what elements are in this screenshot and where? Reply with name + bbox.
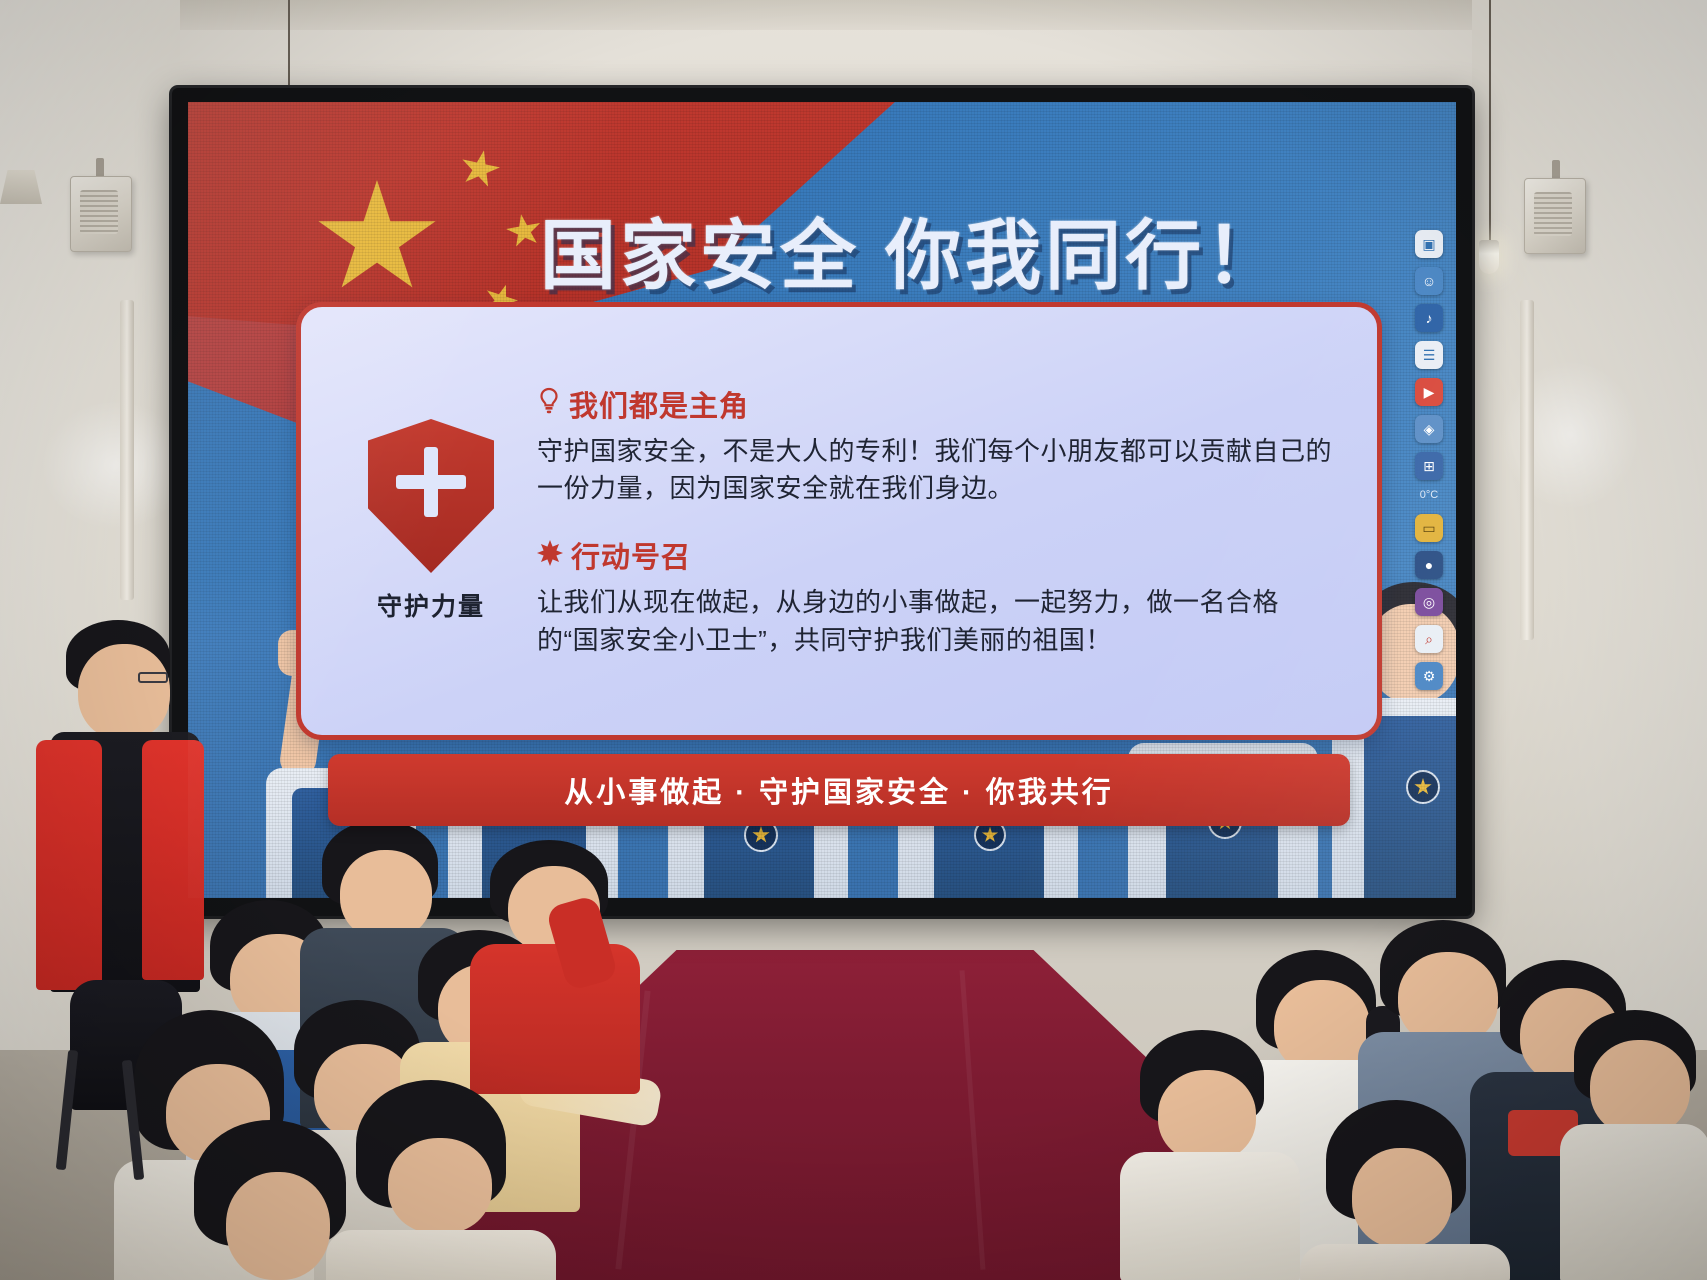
section-heading-2: 行动号召	[537, 534, 1335, 576]
slide-title: 国家安全 你我同行！	[540, 194, 1285, 304]
child-body	[1120, 1152, 1300, 1280]
display-icon[interactable]: ▣	[1415, 230, 1443, 258]
sparkle-burst-icon	[537, 540, 563, 571]
child-center-3	[170, 1120, 380, 1280]
presenter-red-vest	[36, 740, 102, 990]
section-heading-1-text: 我们都是主角	[569, 383, 749, 425]
temperature-readout: 0°C	[1420, 489, 1438, 505]
section-body-2: 让我们从现在做起，从身边的小事做起，一起努力，做一名合格的“国家安全小卫士”，共…	[537, 584, 1335, 659]
child-head	[226, 1172, 330, 1280]
child-right-5	[1120, 1030, 1300, 1280]
child-head	[340, 850, 432, 940]
search-icon[interactable]: ⌕	[1415, 625, 1443, 653]
shield-plus-icon	[368, 419, 494, 573]
child-body	[1300, 1244, 1510, 1280]
camera-icon[interactable]: ◎	[1415, 588, 1443, 616]
gallery-icon[interactable]: ◈	[1415, 415, 1443, 443]
presenter-head	[78, 644, 170, 740]
speaker-arm-left	[96, 158, 104, 178]
wall-conduit-left	[120, 300, 134, 600]
folder-icon[interactable]: ▭	[1415, 514, 1443, 542]
settings-icon[interactable]: ⚙	[1415, 662, 1443, 690]
wall-right	[1472, 0, 1707, 1080]
lightbulb-icon	[537, 387, 561, 420]
wall-conduit-right	[1520, 300, 1534, 640]
slide-content-card: 守护力量 我们都是主角 守护国家安全，不是大人的专利！我们每个	[296, 302, 1382, 740]
apps-icon[interactable]: ⊞	[1415, 452, 1443, 480]
led-display-screen[interactable]: 国家安全 你我同行！ 守护力量	[188, 102, 1456, 898]
shield-caption: 守护力量	[377, 587, 485, 623]
wall-speaker-left	[70, 176, 132, 252]
illustration-badge	[1406, 770, 1440, 804]
child-right-4	[1560, 1010, 1707, 1280]
slide-footer-banner: 从小事做起 · 守护国家安全 · 你我共行	[328, 754, 1350, 826]
wall-speaker-right	[1524, 178, 1586, 254]
ceiling-light-bulb-right	[1479, 240, 1499, 274]
speaker-arm-right	[1552, 160, 1560, 180]
child-right-6	[1300, 1100, 1510, 1280]
child-body	[1560, 1124, 1707, 1280]
child-head	[1352, 1148, 1452, 1248]
classroom-scene: 国家安全 你我同行！ 守护力量	[0, 0, 1707, 1280]
light-wire-right	[1489, 0, 1491, 240]
ceiling-beam	[0, 0, 1707, 30]
presenter-glasses	[138, 672, 168, 683]
card-text-column: 我们都是主角 守护国家安全，不是大人的专利！我们每个小朋友都可以贡献自己的一份力…	[531, 377, 1377, 666]
child-head	[1590, 1040, 1690, 1136]
section-body-1: 守护国家安全，不是大人的专利！我们每个小朋友都可以贡献自己的一份力量，因为国家安…	[537, 433, 1335, 508]
section-heading-1: 我们都是主角	[537, 383, 1335, 425]
child-head	[1158, 1070, 1256, 1162]
wall-stain-1	[40, 400, 190, 530]
child-head	[388, 1138, 492, 1234]
plus-horizontal-bar	[396, 475, 466, 489]
music-icon[interactable]: ♪	[1415, 304, 1443, 332]
browser-icon[interactable]: ●	[1415, 551, 1443, 579]
led-display-frame[interactable]: 国家安全 你我同行！ 守护力量	[172, 88, 1472, 916]
section-heading-2-text: 行动号召	[571, 534, 691, 576]
illustration-vest	[1364, 716, 1456, 898]
screen-side-toolbar[interactable]: ▣ ☺ ♪ ☰ ▶ ◈ ⊞ 0°C ▭ ● ◎ ⌕ ⚙	[1412, 230, 1446, 690]
document-icon[interactable]: ☰	[1415, 341, 1443, 369]
child-center-1	[460, 840, 660, 1090]
video-icon[interactable]: ▶	[1415, 378, 1443, 406]
user-icon[interactable]: ☺	[1415, 267, 1443, 295]
carpet-fold-2	[960, 970, 986, 1270]
card-icon-column: 守护力量	[301, 419, 531, 623]
